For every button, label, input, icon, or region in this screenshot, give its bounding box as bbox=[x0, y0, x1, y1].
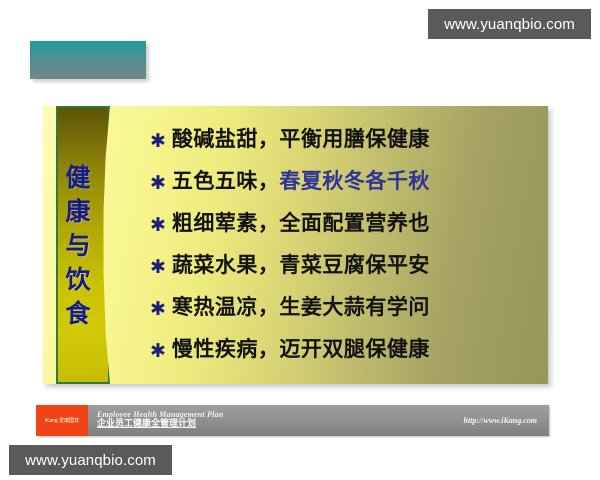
bullet-text: 慢性疾病，迈开双腿保健康 bbox=[172, 338, 430, 360]
bullet-text: 五色五味，春夏秋冬各千秋 bbox=[172, 170, 430, 192]
watermark-bottom: www.yuanqbio.com bbox=[9, 445, 172, 475]
bullet-segment-b: 全面配置营养也 bbox=[279, 211, 430, 235]
bullet-segment-b: 平衡用膳保健康 bbox=[279, 127, 430, 151]
footer-titles: Employee Health Management Plan 企业员工健康全管… bbox=[88, 405, 464, 436]
asterisk-bullet-icon: ✱ bbox=[150, 258, 166, 277]
ikang-logo-text: iKang 爱康国宾 bbox=[45, 417, 79, 424]
vertical-title-char-3: 与 bbox=[65, 233, 90, 258]
bullet-segment-b: 春夏秋冬各千秋 bbox=[279, 169, 430, 193]
footer-bar: iKang 爱康国宾 Employee Health Management Pl… bbox=[36, 405, 549, 436]
asterisk-bullet-icon: ✱ bbox=[150, 342, 166, 361]
bullet-text: 寒热温凉，生姜大蒜有学问 bbox=[172, 296, 430, 318]
vertical-title-char-4: 饮 bbox=[65, 267, 90, 292]
bullet-item: ✱ 蔬菜水果，青菜豆腐保平安 bbox=[150, 254, 540, 276]
bullet-segment-b: 青菜豆腐保平安 bbox=[279, 253, 430, 277]
vertical-title-text: 健 康 与 饮 食 bbox=[56, 106, 100, 384]
bullet-segment-a: 寒热温凉， bbox=[172, 295, 280, 319]
asterisk-bullet-icon: ✱ bbox=[150, 300, 166, 319]
asterisk-bullet-icon: ✱ bbox=[150, 174, 166, 193]
footer-title-cn: 企业员工健康全管理计划 bbox=[97, 420, 464, 430]
bullet-segment-b: 迈开双腿保健康 bbox=[279, 337, 430, 361]
bullet-text: 酸碱盐甜，平衡用膳保健康 bbox=[172, 128, 430, 150]
slide-canvas: 健 康 与 饮 食 ✱ 酸碱盐甜，平衡用膳保健康 ✱ 五色五味，春夏秋冬各千秋 … bbox=[0, 0, 600, 480]
bullet-segment-b: 生姜大蒜有学问 bbox=[279, 295, 430, 319]
ikang-logo: iKang 爱康国宾 bbox=[36, 405, 88, 436]
bullet-segment-a: 五色五味， bbox=[172, 169, 280, 193]
decor-teal-block bbox=[30, 41, 146, 79]
bullet-text: 粗细荤素，全面配置营养也 bbox=[172, 212, 430, 234]
asterisk-bullet-icon: ✱ bbox=[150, 216, 166, 235]
bullet-item: ✱ 酸碱盐甜，平衡用膳保健康 bbox=[150, 128, 540, 150]
bullet-segment-a: 粗细荤素， bbox=[172, 211, 280, 235]
bullet-item: ✱ 慢性疾病，迈开双腿保健康 bbox=[150, 338, 540, 360]
bullet-item: ✱ 粗细荤素，全面配置营养也 bbox=[150, 212, 540, 234]
footer-url[interactable]: http://www.iKang.com bbox=[464, 405, 550, 436]
watermark-top: www.yuanqbio.com bbox=[428, 9, 591, 39]
bullet-segment-a: 蔬菜水果， bbox=[172, 253, 280, 277]
vertical-title-char-5: 食 bbox=[65, 301, 90, 326]
bullet-text: 蔬菜水果，青菜豆腐保平安 bbox=[172, 254, 430, 276]
vertical-title-banner: 健 康 与 饮 食 bbox=[56, 106, 110, 384]
vertical-title-char-1: 健 bbox=[65, 165, 90, 190]
bullet-segment-a: 酸碱盐甜， bbox=[172, 127, 280, 151]
bullet-segment-a: 慢性疾病， bbox=[172, 337, 280, 361]
bullet-item: ✱ 寒热温凉，生姜大蒜有学问 bbox=[150, 296, 540, 318]
bullet-item: ✱ 五色五味，春夏秋冬各千秋 bbox=[150, 170, 540, 192]
asterisk-bullet-icon: ✱ bbox=[150, 132, 166, 151]
vertical-title-char-2: 康 bbox=[65, 199, 90, 224]
bullet-list: ✱ 酸碱盐甜，平衡用膳保健康 ✱ 五色五味，春夏秋冬各千秋 ✱ 粗细荤素，全面配… bbox=[150, 120, 540, 370]
